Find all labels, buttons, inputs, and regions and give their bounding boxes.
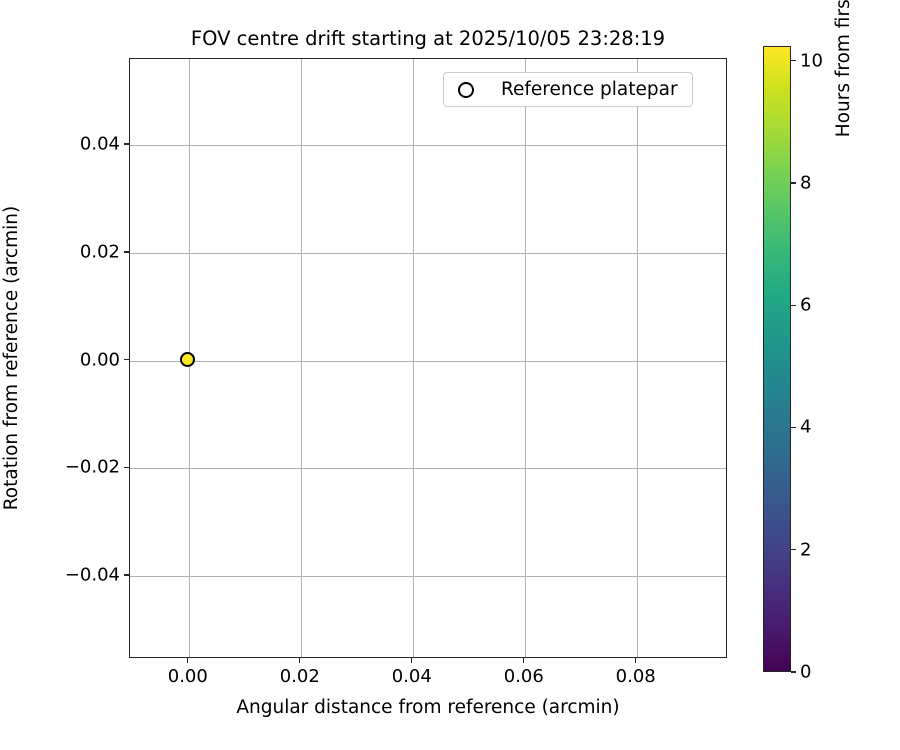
x-tick-mark-3 bbox=[523, 658, 524, 663]
gridline-vertical-2 bbox=[413, 59, 414, 657]
x-tick-label-3: 0.06 bbox=[504, 666, 544, 687]
plot-axes bbox=[129, 58, 727, 658]
colorbar-tick-mark-4 bbox=[791, 182, 796, 183]
gridline-horizontal-0 bbox=[130, 145, 726, 146]
y-tick-label-4: −0.04 bbox=[65, 565, 120, 586]
x-tick-label-1: 0.02 bbox=[280, 666, 320, 687]
colorbar-tick-label-4: 8 bbox=[800, 172, 811, 193]
y-tick-mark-2 bbox=[124, 359, 129, 360]
x-tick-label-4: 0.08 bbox=[616, 666, 656, 687]
colorbar-label: Hours from first FF file bbox=[832, 0, 856, 347]
gridline-vertical-1 bbox=[301, 59, 302, 657]
grid bbox=[130, 59, 726, 657]
x-tick-mark-1 bbox=[299, 658, 300, 663]
chart-title: FOV centre drift starting at 2025/10/05 … bbox=[129, 27, 727, 50]
y-tick-label-1: 0.02 bbox=[80, 241, 120, 262]
colorbar-tick-mark-2 bbox=[791, 427, 796, 428]
x-tick-label-0: 0.00 bbox=[168, 666, 208, 687]
y-tick-label-3: −0.02 bbox=[65, 457, 120, 478]
colorbar-tick-mark-5 bbox=[791, 60, 796, 61]
y-axis-label: Rotation from reference (arcmin) bbox=[0, 58, 24, 658]
y-tick-mark-3 bbox=[124, 467, 129, 468]
gridline-horizontal-3 bbox=[130, 468, 726, 469]
y-tick-mark-4 bbox=[124, 574, 129, 575]
legend-circle-open-icon bbox=[458, 82, 474, 98]
gridline-horizontal-1 bbox=[130, 253, 726, 254]
colorbar-tick-label-0: 0 bbox=[800, 662, 811, 683]
gridline-vertical-3 bbox=[525, 59, 526, 657]
colorbar-gradient bbox=[763, 46, 791, 672]
legend-entry-label: Reference platepar bbox=[501, 79, 678, 100]
y-tick-label-2: 0.00 bbox=[80, 349, 120, 370]
colorbar-tick-label-2: 4 bbox=[800, 417, 811, 438]
colorbar-tick-label-5: 10 bbox=[800, 50, 823, 71]
y-tick-mark-1 bbox=[124, 251, 129, 252]
matplotlib-figure: FOV centre drift starting at 2025/10/05 … bbox=[0, 0, 900, 750]
gridline-vertical-4 bbox=[637, 59, 638, 657]
colorbar-wrapper bbox=[763, 46, 791, 672]
gridline-horizontal-2 bbox=[130, 361, 726, 362]
colorbar-tick-mark-0 bbox=[791, 671, 796, 672]
x-tick-mark-0 bbox=[187, 658, 188, 663]
x-tick-mark-2 bbox=[411, 658, 412, 663]
gridline-horizontal-4 bbox=[130, 576, 726, 577]
x-tick-mark-4 bbox=[635, 658, 636, 663]
colorbar-tick-mark-1 bbox=[791, 549, 796, 550]
x-axis-label: Angular distance from reference (arcmin) bbox=[129, 697, 727, 718]
x-tick-label-2: 0.04 bbox=[392, 666, 432, 687]
colorbar-tick-label-1: 2 bbox=[800, 539, 811, 560]
legend: Reference platepar bbox=[443, 72, 693, 107]
colorbar-tick-mark-3 bbox=[791, 305, 796, 306]
y-tick-mark-0 bbox=[124, 143, 129, 144]
y-tick-label-0: 0.04 bbox=[80, 134, 120, 155]
colorbar-tick-label-3: 6 bbox=[800, 295, 811, 316]
